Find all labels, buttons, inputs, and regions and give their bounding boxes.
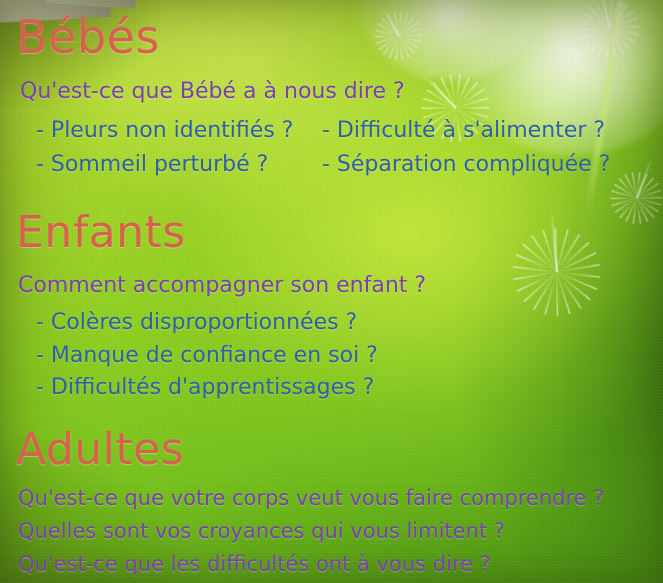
bullet-enfants-1: - Colères disproportionnées ?: [36, 310, 357, 335]
bullet-bebes-3: - Sommeil perturbé ?: [36, 152, 268, 177]
adultes-line-3: Qu'est-ce que les difficultés ont à vous…: [18, 552, 491, 576]
bullet-bebes-4: - Séparation compliquée ?: [322, 152, 610, 177]
adultes-line-1: Qu'est-ce que votre corps veut vous fair…: [18, 486, 604, 510]
section-question-bebes: Qu'est-ce que Bébé a à nous dire ?: [20, 79, 405, 104]
section-question-enfants: Comment accompagner son enfant ?: [18, 273, 426, 298]
poster-background: Bébés Qu'est-ce que Bébé a à nous dire ?…: [0, 0, 663, 583]
bullet-enfants-3: - Difficultés d'apprentissages ?: [36, 375, 374, 400]
section-heading-adultes: Adultes: [16, 424, 184, 475]
section-heading-bebes: Bébés: [16, 10, 160, 64]
adultes-line-2: Quelles sont vos croyances qui vous limi…: [18, 519, 505, 543]
poster-text-layer: Bébés Qu'est-ce que Bébé a à nous dire ?…: [0, 0, 663, 583]
bullet-bebes-2: - Difficulté à s'alimenter ?: [322, 118, 605, 143]
bullet-enfants-2: - Manque de confiance en soi ?: [36, 343, 378, 368]
bullet-bebes-1: - Pleurs non identifiés ?: [36, 118, 293, 143]
section-heading-enfants: Enfants: [16, 207, 186, 258]
